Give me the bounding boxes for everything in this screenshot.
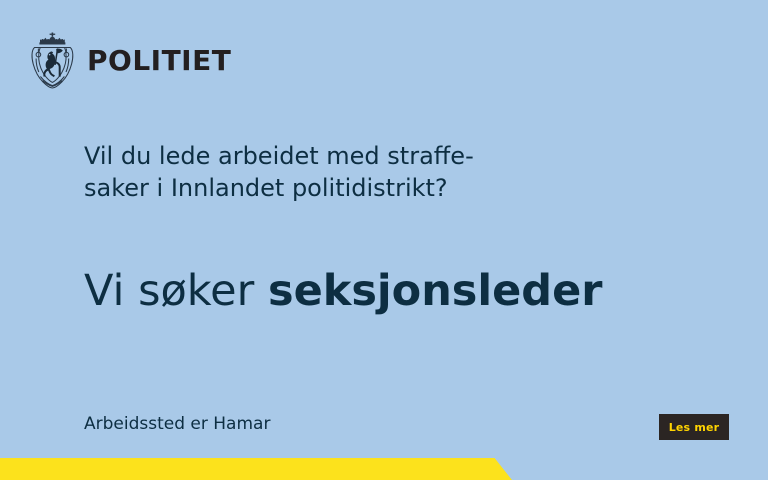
recruitment-banner: POLITIET Vil du lede arbeidet med straff… [0,0,768,480]
politiet-wordmark: POLITIET [87,47,231,75]
page-title: Vi søker seksjonsleder [84,266,724,316]
headline-prefix: Vi søker [84,266,268,316]
yellow-accent-stripe [0,458,512,480]
location-text: Arbeidssted er Hamar [84,413,270,435]
norwegian-coat-of-arms-shield-icon [28,32,78,89]
headline-emphasis: seksjonsleder [268,266,603,316]
les-mer-button-label: Les mer [669,422,720,433]
politiet-logo: POLITIET [28,32,231,89]
kicker-text: Vil du lede arbeidet med straffe- saker … [84,140,644,204]
les-mer-button[interactable]: Les mer [659,414,729,440]
